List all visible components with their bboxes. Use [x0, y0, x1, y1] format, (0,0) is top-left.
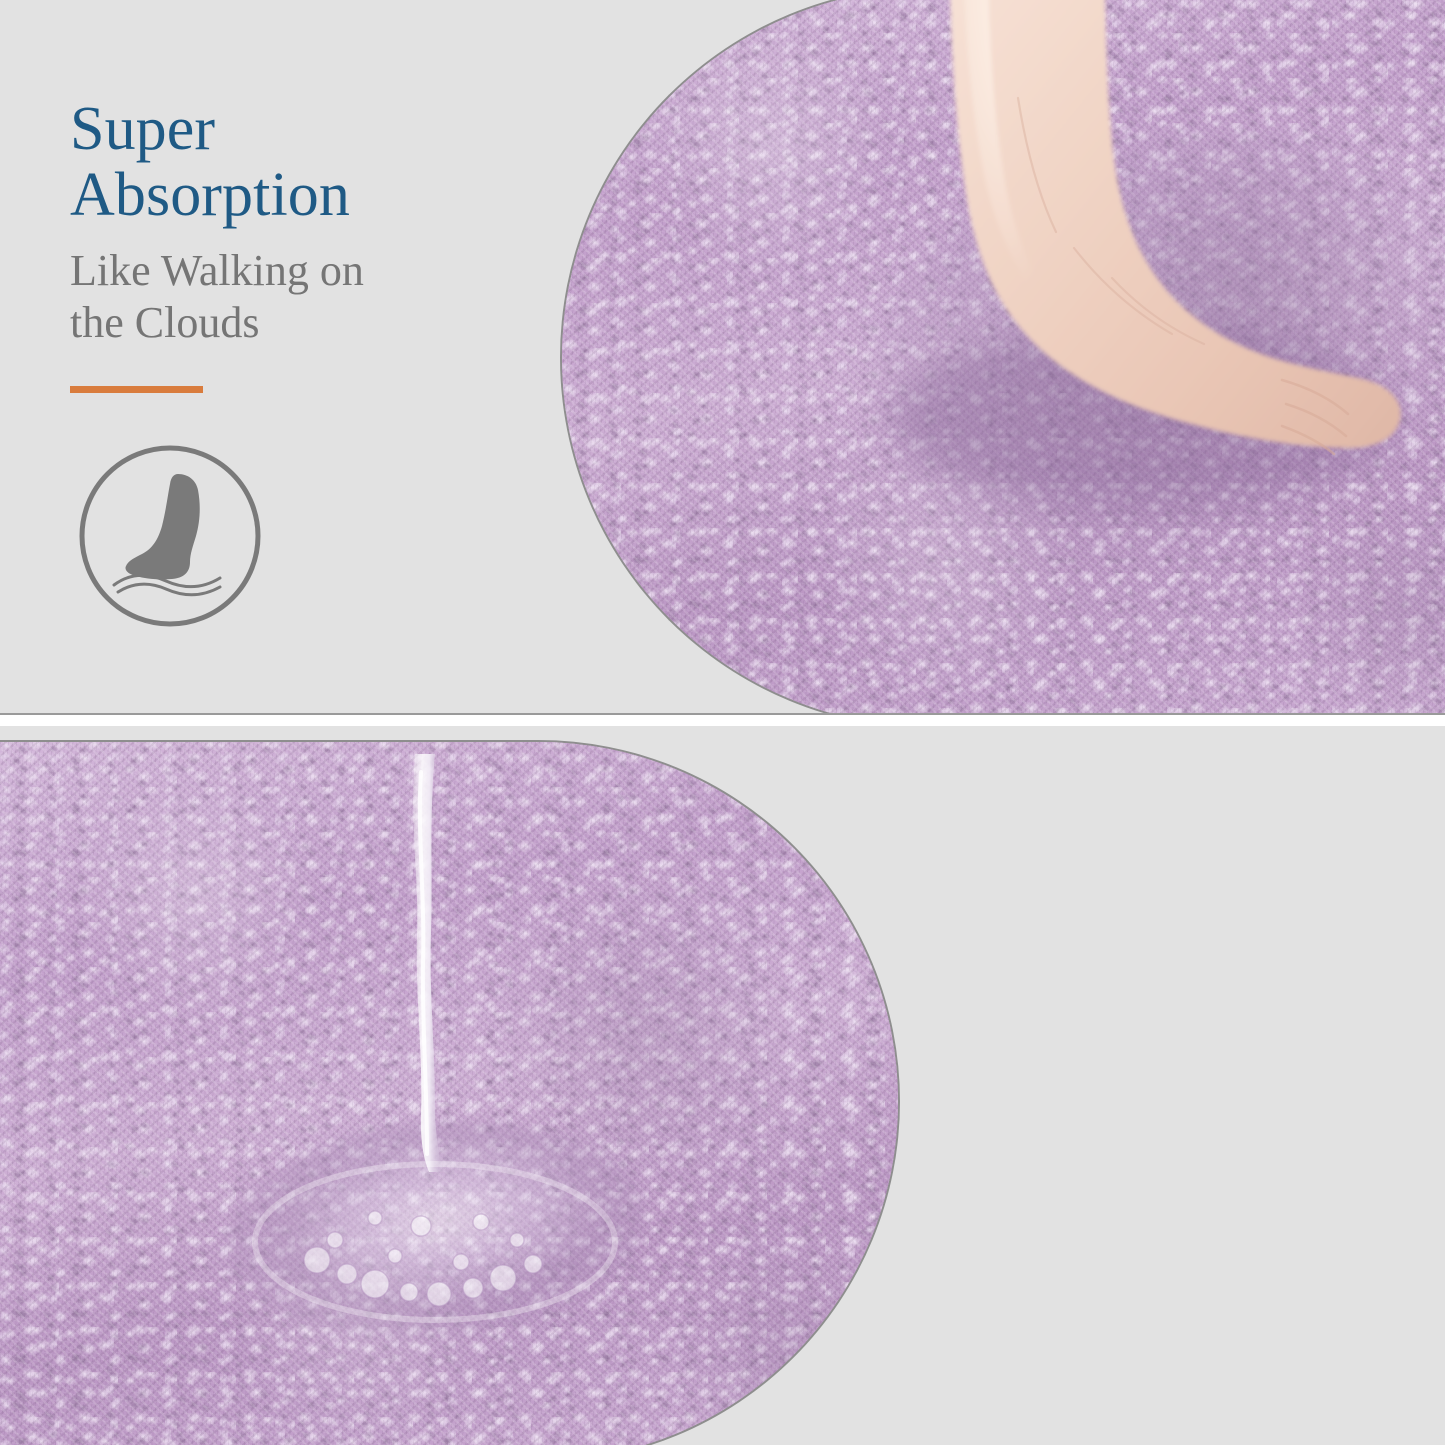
feature-text-top: Super Absorption Like Walking on the Clo… [70, 96, 490, 393]
subline-top: Like Walking on the Clouds [70, 245, 490, 349]
accent-bar-top [70, 386, 203, 393]
infographic-canvas: Super Absorption Like Walking on the Clo… [0, 0, 1445, 1445]
water-bubbles [225, 1122, 645, 1337]
bare-foot-illustration [812, 0, 1445, 568]
rug-texture [0, 742, 898, 1445]
water-stream [395, 754, 447, 1174]
feature-panel-top: Super Absorption Like Walking on the Clo… [0, 0, 1445, 715]
foot-on-wave-icon [74, 440, 266, 632]
feature-panel-bottom: Super Absorption Prevents Water Stains o… [0, 726, 1445, 1445]
foot-pressed-into-rug-photo [560, 0, 1445, 715]
water-poured-on-rug-photo [0, 740, 900, 1445]
headline-top: Super Absorption [70, 96, 490, 229]
